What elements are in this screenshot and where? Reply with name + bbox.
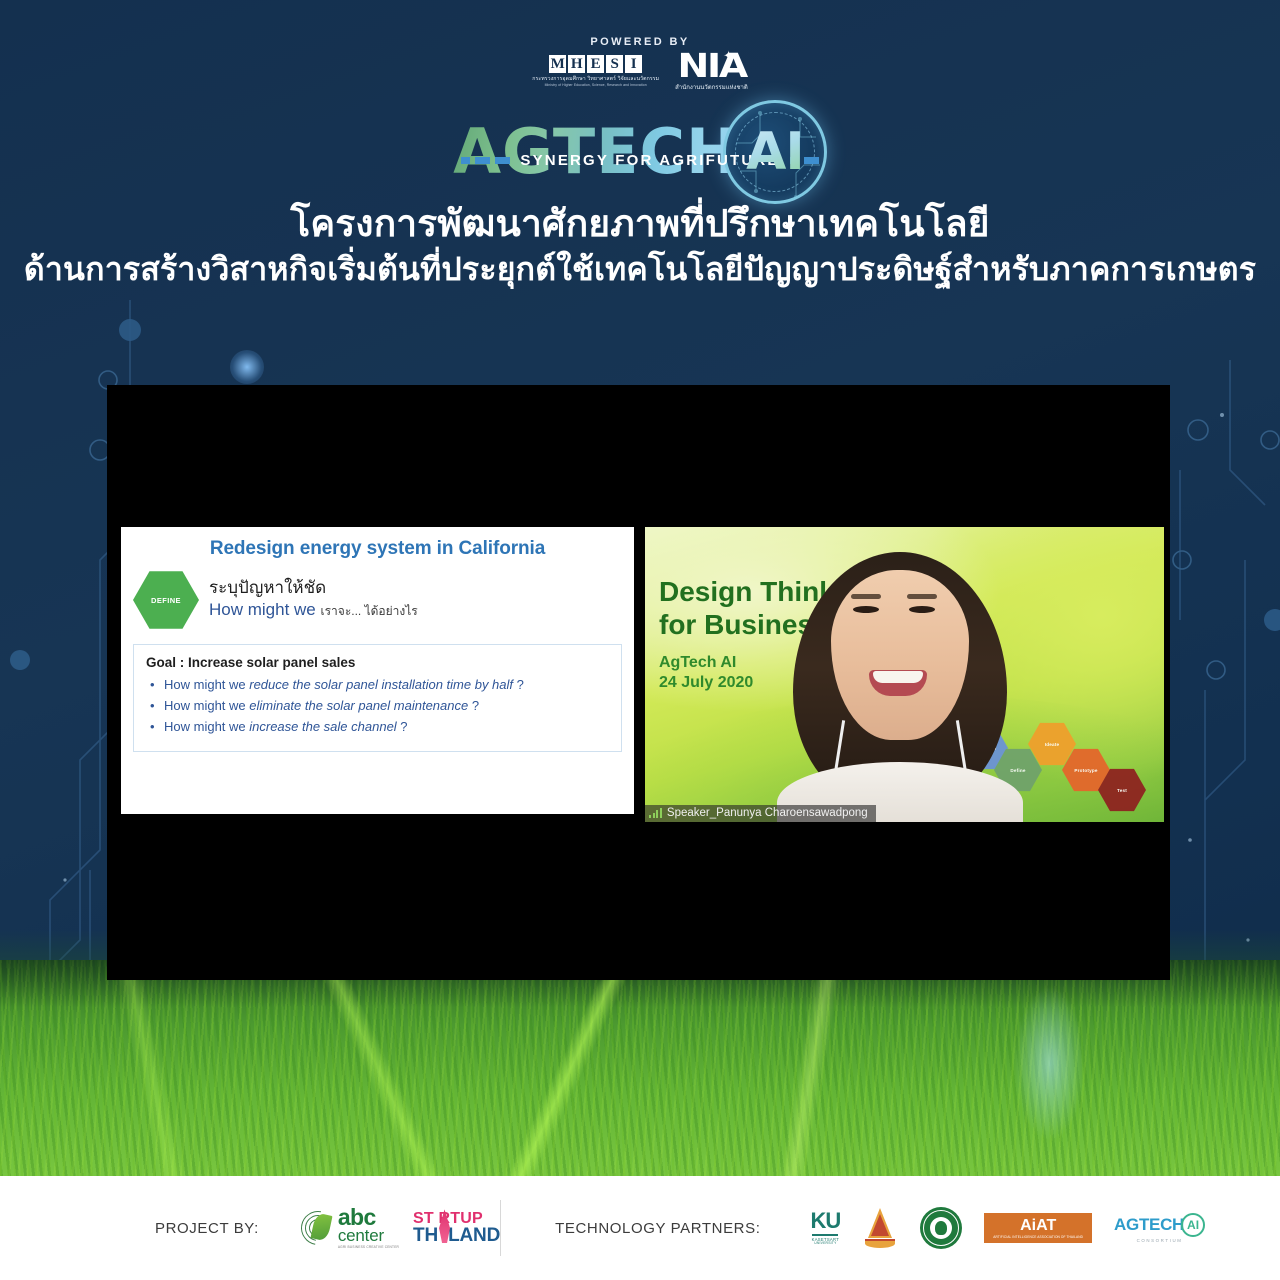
bullet-emphasis: increase the sale channel [249,719,396,734]
bullet-prefix: How might we [164,677,249,692]
footer-bar: PROJECT BY: abc center AGRI BUSINESS CRE… [0,1176,1280,1280]
slide-title: Redesign energy system in California [121,538,634,560]
mhesi-letter: M [549,55,566,73]
page-title: โครงการพัฒนาศักยภาพที่ปรึกษาเทคโนโลยี ด้… [0,200,1280,291]
bullet-emphasis: eliminate the solar panel maintenance [249,698,468,713]
goal-heading: Goal : Increase solar panel sales [146,655,609,670]
mhesi-letter: I [625,55,642,73]
nia-wordmark: NIA [677,51,745,81]
technology-partners-label: TECHNOLOGY PARTNERS: [555,1220,760,1237]
signal-bars-icon [649,808,662,818]
ku-rule [812,1234,838,1236]
mhesi-letter: H [568,55,585,73]
startup-bottom-text: TH ILAND [413,1227,500,1245]
define-stage-row: DEFINE ระบุปัญหาให้ชัด How might we เราจ… [133,570,634,630]
agtech-consortium-sub: CONSORTIUM [1137,1239,1183,1243]
mhesi-letter: E [587,55,604,73]
bullet-suffix: ? [397,719,408,734]
define-subheading-english: How might we [209,600,316,619]
bullet-prefix: How might we [164,719,249,734]
dt-hex-label: Ideate [1045,742,1059,747]
bullet-suffix: ? [513,677,524,692]
abc-primary-text: abc [338,1207,399,1228]
project-by-label: PROJECT BY: [155,1220,259,1237]
bullet-prefix: How might we [164,698,249,713]
tagline-dashes-left-icon [461,157,510,164]
define-subheading-thai: เราจะ... ได้อย่างไร [321,604,418,618]
mhesi-letters: M H E S I [549,55,642,73]
goal-bullet-item: How might we eliminate the solar panel m… [146,695,609,716]
goal-bullet-item: How might we reduce the solar panel inst… [146,674,609,695]
agtech-ai-consortium-logo[interactable]: AGTECH AI CONSORTIUM [1114,1213,1205,1243]
green-university-seal-logo[interactable] [920,1207,962,1249]
speaker-avatar [775,532,1025,822]
aiat-text: AiAT [1020,1218,1056,1234]
abc-caption: AGRI BUSINESS CREATIVE CENTER [338,1246,399,1249]
abc-center-logo[interactable]: abc center AGRI BUSINESS CREATIVE CENTER [301,1207,399,1249]
ku-letters: KU [810,1210,840,1232]
goal-bullet-item: How might we increase the sale channel ? [146,716,609,737]
bullet-emphasis: reduce the solar panel installation time… [249,677,513,692]
powered-by-label: POWERED BY [590,36,689,48]
agtech-tagline: SYNERGY FOR AGRIFUTURE [520,152,779,169]
phra-kiao-base-icon [865,1239,895,1248]
technology-partners-section: TECHNOLOGY PARTNERS: KU KASETSART UNIVER… [501,1176,1205,1280]
aiat-logo[interactable]: AiAT ARTIFICIAL INTELLIGENCE ASSOCIATION… [984,1213,1092,1243]
powered-by-logo-row: M H E S I กระทรวงการอุดมศึกษา วิทยาศาสตร… [532,51,748,92]
ai-badge-text: AI [746,122,804,182]
goal-box: Goal : Increase solar panel sales How mi… [133,644,622,752]
abc-secondary-text: center [338,1228,399,1244]
recording-viewport: Redesign energy system in California DEF… [107,385,1170,980]
project-by-section: PROJECT BY: abc center AGRI BUSINESS CRE… [0,1176,500,1280]
video-bg-subtitle: AgTech AI 24 July 2020 [659,653,753,694]
chulalongkorn-university-logo[interactable] [862,1206,898,1250]
goal-bullet-list: How might we reduce the solar panel inst… [146,674,609,737]
define-badge-label: DEFINE [151,596,181,605]
define-heading-thai: ระบุปัญหาให้ชัด [209,578,418,598]
dt-hex-label: Prototype [1074,768,1097,773]
kasetsart-university-logo[interactable]: KU KASETSART UNIVERSITY [810,1210,840,1245]
define-hexagon-icon: DEFINE [133,570,199,630]
partner-logo-row: KU KASETSART UNIVERSITY AiAT ARTIFICIAL … [810,1206,1205,1250]
mhesi-logo: M H E S I กระทรวงการอุดมศึกษา วิทยาศาสตร… [532,55,659,87]
seal-inner-icon [930,1217,952,1239]
aiat-caption: ARTIFICIAL INTELLIGENCE ASSOCIATION OF T… [993,1236,1083,1239]
header-logos: POWERED BY M H E S I กระทรวงการอุดมศึกษา… [0,36,1280,92]
glow-dot-icon [230,350,264,384]
dt-hex-label: Test [1117,788,1127,793]
title-line-1: โครงการพัฒนาศักยภาพที่ปรึกษาเทคโนโลยี [0,200,1280,247]
speaker-name-label: Speaker_Panunya Charoensawadpong [645,805,876,822]
ku-name-line2: UNIVERSITY [814,1242,836,1245]
agtech-tagline-row: SYNERGY FOR AGRIFUTURE [0,152,1280,169]
agtech-consortium-badge: AI [1181,1213,1205,1237]
speaker-name-text: Speaker_Panunya Charoensawadpong [667,807,868,819]
bullet-suffix: ? [468,698,479,713]
phra-kiao-inner-icon [871,1214,889,1236]
abc-leaf-icon [301,1211,335,1245]
shared-slide: Redesign energy system in California DEF… [121,527,634,814]
nia-logo: ✦ NIA สำนักงานนวัตกรรมแห่งชาติ [675,51,748,92]
grass-field-background [0,960,1280,1176]
speaker-video-tile[interactable]: Design Thinking for Business AgTech AI 2… [645,527,1164,822]
agtech-consortium-word: AGTECH [1114,1216,1184,1233]
mhesi-letter: S [606,55,623,73]
mhesi-thai-name: กระทรวงการอุดมศึกษา วิทยาศาสตร์ วิจัยและ… [532,75,659,83]
project-logo-row: abc center AGRI BUSINESS CREATIVE CENTER… [301,1207,500,1249]
agtech-consortium-badge-text: AI [1187,1219,1199,1231]
poster-stage: POWERED BY M H E S I กระทรวงการอุดมศึกษา… [0,0,1280,1280]
startup-thailand-logo[interactable]: ST RTUP TH ILAND [413,1211,500,1244]
title-line-2: ด้านการสร้างวิสาหกิจเริ่มต้นที่ประยุกต์ใ… [0,249,1280,291]
mhesi-english-name: Ministry of Higher Education, Science, R… [545,83,647,87]
